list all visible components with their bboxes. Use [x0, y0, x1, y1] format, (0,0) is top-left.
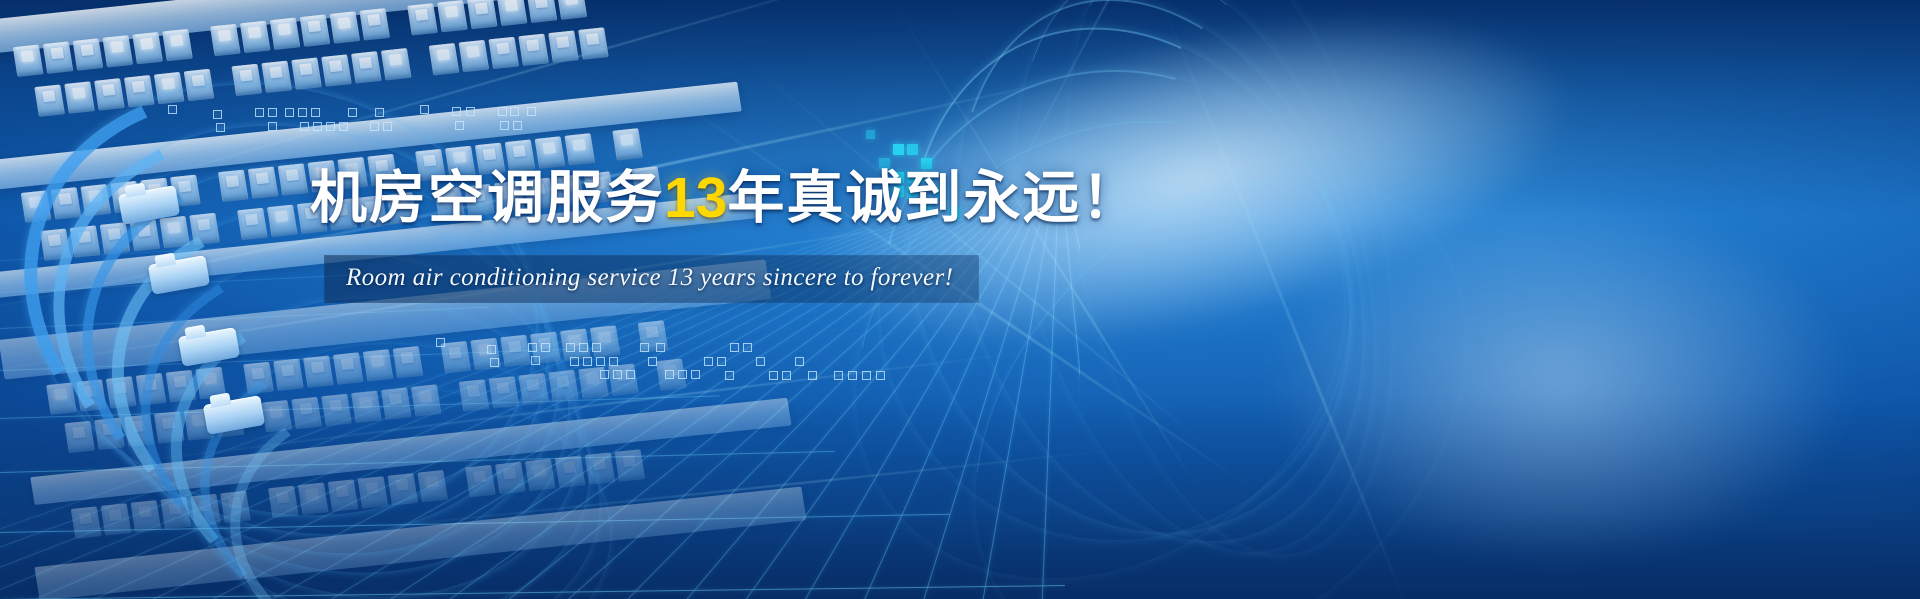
subtitle-text: Room air conditioning service 13 years s…: [346, 264, 953, 292]
headline-part-after: 年真诚到永远！: [727, 166, 1140, 230]
subtitle-bar: Room air conditioning service 13 years s…: [324, 255, 979, 303]
page-title: 机房空调服务13年真诚到永远！: [310, 168, 1140, 228]
decor-pixel-block: [866, 130, 875, 139]
headline-highlight-number: 13: [664, 166, 727, 230]
decor-pixel-block: [907, 144, 918, 155]
headline-part-before: 机房空调服务: [310, 166, 664, 230]
decor-pixel-block: [893, 144, 904, 155]
promo-banner: 机房空调服务13年真诚到永远！ Room air conditioning se…: [0, 0, 1920, 599]
